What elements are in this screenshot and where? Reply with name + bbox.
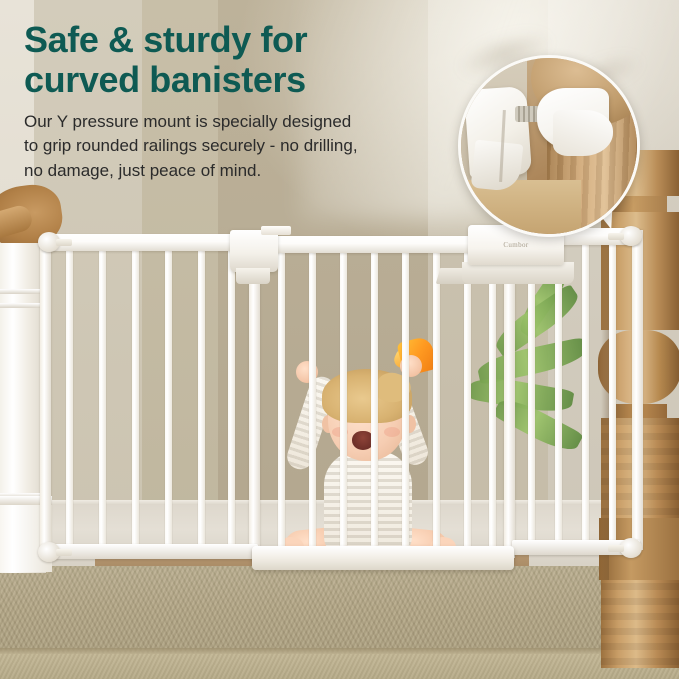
body-line-3: no damage, just peace of mind. [24, 159, 464, 184]
pressure-mount-stem [56, 239, 72, 246]
gate-bar [489, 251, 496, 549]
gate-bar [278, 251, 285, 549]
y-pressure-mount-lower [553, 110, 613, 156]
product-marketing-image: Cumbor Safe & sturdy for curved banister… [0, 0, 679, 679]
gate-bar [528, 243, 535, 542]
baby-safety-gate: Cumbor [34, 224, 646, 572]
gate-threshold-bar [252, 546, 514, 570]
gate-bar [582, 243, 589, 542]
stair-step-lower [0, 654, 679, 679]
gate-bottom-rail-left [42, 544, 258, 559]
headline-line-1: Safe & sturdy for [24, 20, 464, 60]
pressure-mount-stem [608, 233, 624, 240]
gate-bar [132, 249, 139, 547]
headline-line-2: curved banisters [24, 60, 464, 100]
gate-bar [340, 251, 347, 549]
gate-bar [99, 249, 106, 547]
gate-bar [555, 243, 562, 542]
marketing-copy: Safe & sturdy for curved banisters Our Y… [24, 20, 464, 184]
gate-bar [433, 251, 440, 549]
gate-bar [371, 251, 378, 549]
gate-bar [198, 249, 205, 547]
brand-label: Cumbor [503, 241, 528, 249]
gate-bar [609, 243, 616, 542]
gate-hinge-tab [261, 226, 291, 235]
gate-bar [165, 249, 172, 547]
pressure-mount-stem [608, 545, 624, 552]
gate-door-post-hinge [249, 238, 260, 558]
gate-top-rail-left [42, 234, 258, 251]
gate-bar [309, 251, 316, 549]
body-line-1: Our Y pressure mount is specially design… [24, 110, 464, 135]
gate-door-post-latch [504, 238, 515, 558]
page-title: Safe & sturdy for curved banisters [24, 20, 464, 101]
pressure-mount-stem [56, 549, 72, 556]
gate-bar [66, 249, 73, 547]
gate-frame-post-right [632, 230, 643, 550]
gate-hinge-lip [236, 268, 270, 284]
gate-bar [402, 251, 409, 549]
gate-bar [228, 249, 235, 547]
latch-skirt [462, 262, 574, 284]
inset-detail-circle [458, 55, 640, 237]
gate-hinge-block [230, 230, 278, 272]
body-line-2: to grip rounded railings securely - no d… [24, 134, 464, 159]
body-copy: Our Y pressure mount is specially design… [24, 110, 464, 184]
gate-bar [464, 251, 471, 549]
gate-frame-post-left [40, 236, 51, 556]
